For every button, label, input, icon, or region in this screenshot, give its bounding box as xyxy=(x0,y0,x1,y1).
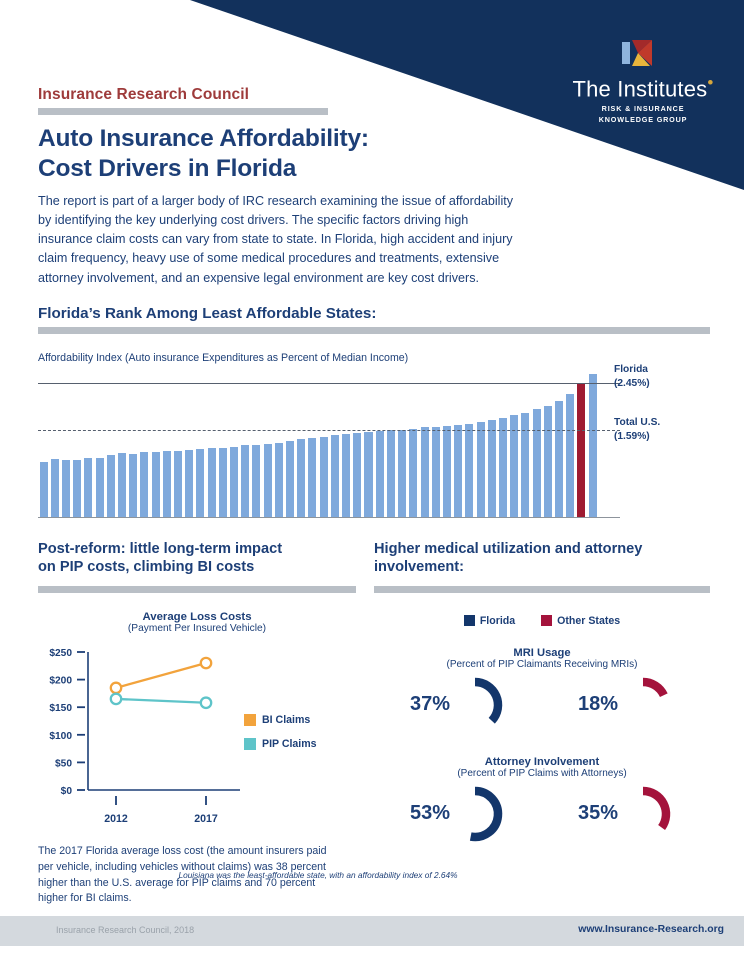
logo-wordmark: The Institutes• xyxy=(568,74,718,100)
bar-state xyxy=(73,460,81,518)
average-loss-costs-chart: $0$50$100$150$200$25020122017 BI Claims … xyxy=(38,640,356,840)
bar-state xyxy=(286,441,294,518)
legend-swatch-bi xyxy=(244,714,256,726)
bar-state xyxy=(488,420,496,518)
page-footer: Insurance Research Council, 2018 www.Ins… xyxy=(0,916,744,946)
mri-other-arc xyxy=(612,674,674,736)
svg-text:$250: $250 xyxy=(49,648,72,659)
footer-website[interactable]: www.Insurance-Research.org xyxy=(578,924,724,935)
svg-text:2012: 2012 xyxy=(104,813,128,825)
bar-state xyxy=(118,453,126,518)
bar-state xyxy=(353,433,361,518)
attorney-gauges: 53% 35% xyxy=(374,783,710,845)
bar-state xyxy=(219,448,227,518)
legend-item-other-states: Other States xyxy=(541,615,620,627)
logo-tagline: RISK & INSURANCE KNOWLEDGE GROUP xyxy=(568,104,718,125)
section-heading-rank: Florida’s Rank Among Least Affordable St… xyxy=(38,305,376,322)
bar-state xyxy=(342,434,350,518)
bar-state xyxy=(499,418,507,518)
legend-item-pip: PIP Claims xyxy=(244,738,317,750)
attorney-subtitle: (Percent of PIP Claims with Attorneys) xyxy=(374,768,710,779)
bar-state xyxy=(566,394,574,518)
legend-swatch-florida xyxy=(464,615,475,626)
bar-state xyxy=(308,438,316,518)
mri-other-gauge: 18% xyxy=(578,674,674,736)
gauge-arc-path xyxy=(471,791,498,837)
institutes-arrow-mark xyxy=(620,36,666,70)
bar-state xyxy=(589,374,597,518)
bar-state xyxy=(398,430,406,518)
annotation-florida: Florida (2.45%) xyxy=(614,363,650,391)
legend-item-bi: BI Claims xyxy=(244,714,317,726)
divider-rule-section1 xyxy=(38,327,710,334)
bar-state xyxy=(376,431,384,518)
bar-state xyxy=(152,452,160,518)
bar-state xyxy=(521,413,529,518)
attorney-florida-gauge: 53% xyxy=(410,783,506,845)
bar-state xyxy=(129,454,137,518)
bar-state xyxy=(533,409,541,518)
attorney-florida-arc xyxy=(444,783,506,845)
org-title: Insurance Research Council xyxy=(38,86,249,104)
mri-usage-subtitle: (Percent of PIP Claimants Receiving MRIs… xyxy=(374,659,710,670)
gauge-arc-path xyxy=(643,791,666,828)
bar-state xyxy=(443,426,451,518)
svg-text:$50: $50 xyxy=(55,758,72,769)
us-reference-line xyxy=(38,430,620,431)
bar-state xyxy=(320,437,328,518)
mri-florida-gauge: 37% xyxy=(410,674,506,736)
svg-text:2017: 2017 xyxy=(194,813,218,825)
divider-rule-left xyxy=(38,586,356,593)
legend-swatch-other-states xyxy=(541,615,552,626)
attorney-other-arc xyxy=(612,783,674,845)
mri-usage-gauges: 37% 18% xyxy=(374,674,710,736)
legend-item-florida: Florida xyxy=(464,615,515,627)
bar-state xyxy=(230,447,238,518)
line-chart-legend: BI Claims PIP Claims xyxy=(244,714,317,762)
mri-usage-title: MRI Usage xyxy=(374,647,710,659)
florida-reference-line xyxy=(38,383,620,384)
svg-text:$150: $150 xyxy=(49,703,72,714)
legend-label-bi: BI Claims xyxy=(262,714,310,726)
bar-state xyxy=(84,458,92,518)
bar-state xyxy=(252,445,260,518)
the-institutes-logo: The Institutes• RISK & INSURANCE KNOWLED… xyxy=(568,36,718,125)
attorney-title: Attorney Involvement xyxy=(374,756,710,768)
bar-state xyxy=(185,450,193,518)
line-chart-subtitle: (Payment Per Insured Vehicle) xyxy=(38,623,356,634)
bar-state xyxy=(409,429,417,518)
attorney-involvement-block: Attorney Involvement (Percent of PIP Cla… xyxy=(374,756,710,845)
bar-florida xyxy=(577,384,585,518)
attorney-other-gauge: 35% xyxy=(578,783,674,845)
bar-state xyxy=(432,427,440,518)
bar-state xyxy=(331,435,339,518)
bar-state xyxy=(140,452,148,518)
donut-legend: Florida Other States xyxy=(374,615,710,627)
bar-chart-baseline xyxy=(38,517,620,518)
bar-state xyxy=(62,460,70,518)
left-column-footnote: The 2017 Florida average loss cost (the … xyxy=(38,844,338,908)
left-column: Post-reform: little long-term impact on … xyxy=(38,540,356,907)
bar-state xyxy=(208,448,216,518)
bar-state xyxy=(297,439,305,518)
bar-state xyxy=(555,401,563,518)
annotation-total-us: Total U.S. (1.59%) xyxy=(614,416,660,444)
svg-text:$100: $100 xyxy=(49,731,72,742)
bar-state xyxy=(477,422,485,518)
bar-state xyxy=(96,458,104,518)
gauge-arc-path xyxy=(475,682,498,721)
bar-state xyxy=(163,451,171,518)
bar-state xyxy=(264,444,272,518)
bar-state xyxy=(51,459,59,518)
bar-series xyxy=(38,368,598,518)
bar-state xyxy=(275,443,283,518)
bar-state xyxy=(387,430,395,518)
bar-state xyxy=(196,449,204,518)
mri-florida-arc xyxy=(444,674,506,736)
mri-usage-block: MRI Usage (Percent of PIP Claimants Rece… xyxy=(374,647,710,736)
section-heading-postreform: Post-reform: little long-term impact on … xyxy=(38,540,356,577)
right-column: Higher medical utilization and attorney … xyxy=(374,540,710,845)
divider-rule-right xyxy=(374,586,710,593)
section-heading-utilization: Higher medical utilization and attorney … xyxy=(374,540,710,577)
line-chart-title: Average Loss Costs xyxy=(38,611,356,623)
affordability-bar-chart: Louisiana was the least-affordable state… xyxy=(38,356,598,518)
bar-state xyxy=(364,432,372,518)
page-title: Auto Insurance Affordability: Cost Drive… xyxy=(38,124,369,183)
bar-state xyxy=(174,451,182,518)
legend-label-other-states: Other States xyxy=(557,615,620,627)
footer-copyright: Insurance Research Council, 2018 xyxy=(56,925,194,935)
bar-state xyxy=(454,425,462,518)
legend-label-pip: PIP Claims xyxy=(262,738,317,750)
bar-state xyxy=(544,406,552,518)
bar-state xyxy=(107,455,115,518)
bar-state xyxy=(465,424,473,518)
bar-state xyxy=(40,462,48,518)
bar-state xyxy=(421,427,429,518)
legend-label-florida: Florida xyxy=(480,615,515,627)
intro-paragraph: The report is part of a larger body of I… xyxy=(38,192,518,288)
legend-swatch-pip xyxy=(244,738,256,750)
bar-state xyxy=(241,445,249,518)
gauge-arc-path xyxy=(643,682,664,695)
infographic-page: The Institutes• RISK & INSURANCE KNOWLED… xyxy=(0,0,744,963)
divider-rule-top xyxy=(38,108,328,115)
svg-text:$200: $200 xyxy=(49,675,72,686)
svg-text:$0: $0 xyxy=(61,786,73,797)
